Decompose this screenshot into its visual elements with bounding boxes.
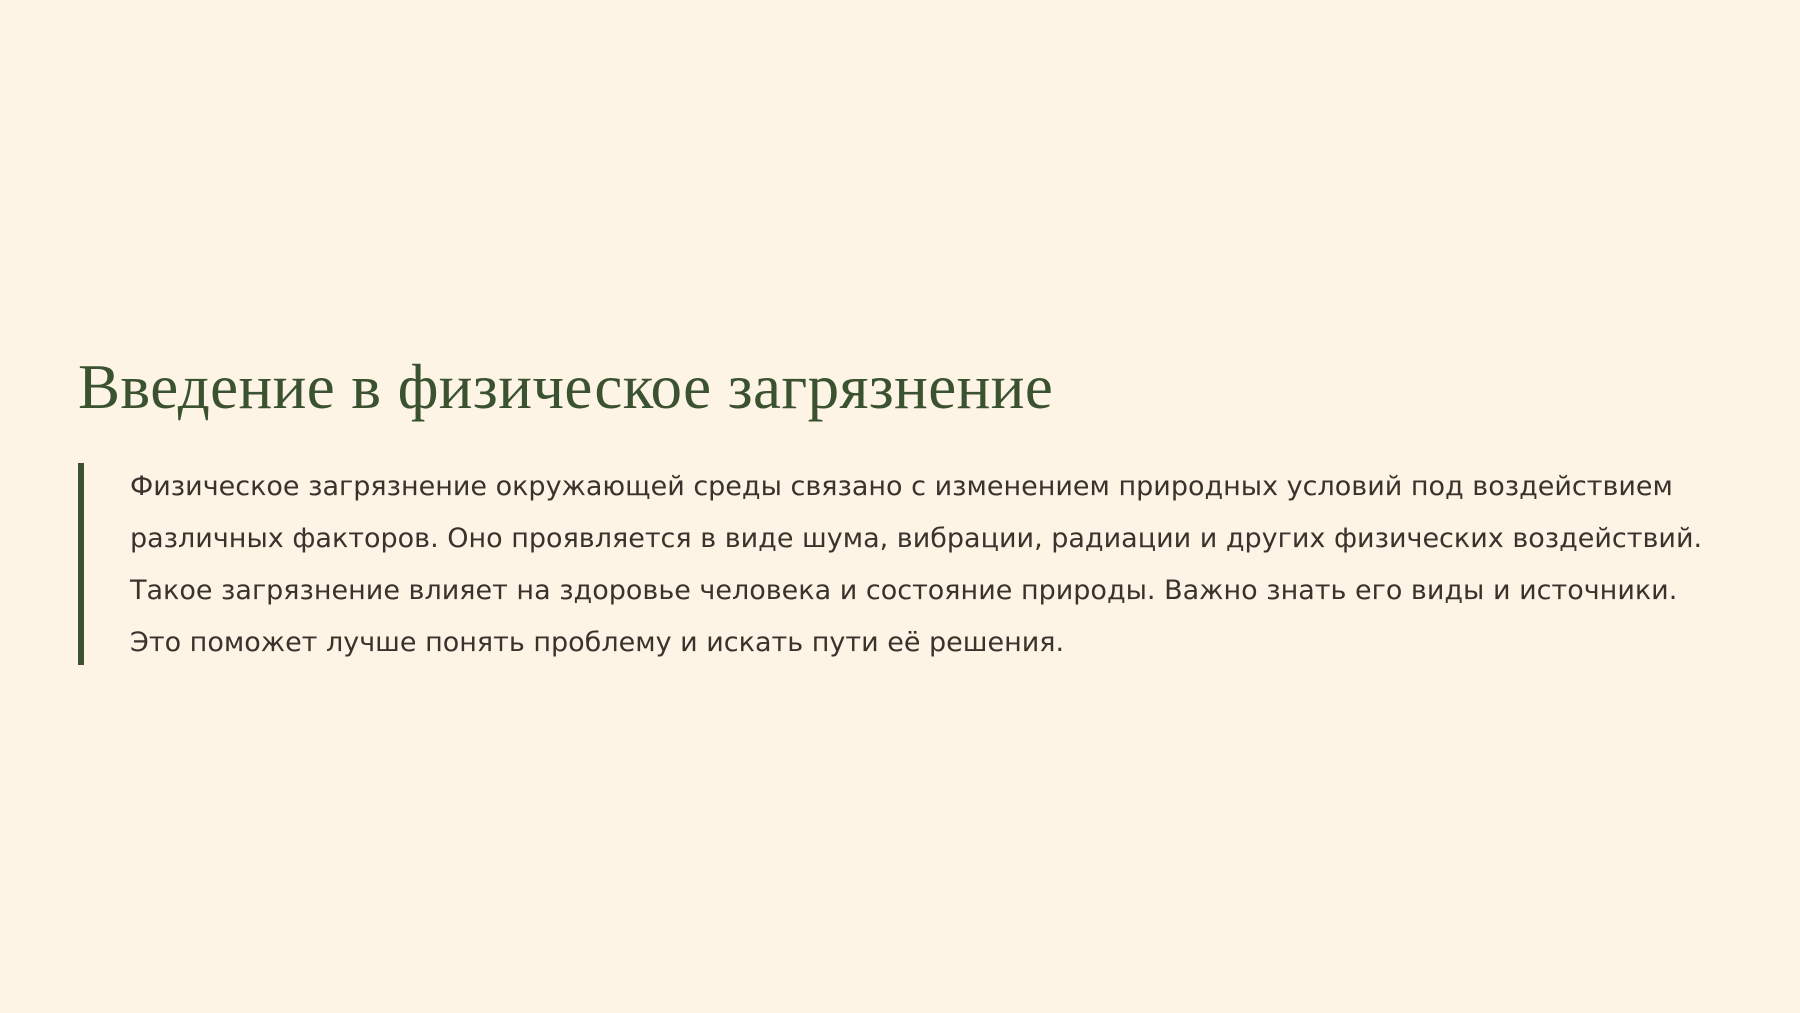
slide-content: Введение в физическое загрязнение Физиче… [78, 352, 1718, 669]
intro-block: Физическое загрязнение окружающей среды … [78, 461, 1718, 669]
slide-canvas: Введение в физическое загрязнение Физиче… [0, 0, 1800, 1013]
intro-paragraph: Физическое загрязнение окружающей среды … [130, 461, 1718, 669]
page-title: Введение в физическое загрязнение [78, 352, 1718, 423]
accent-bar [78, 463, 84, 665]
